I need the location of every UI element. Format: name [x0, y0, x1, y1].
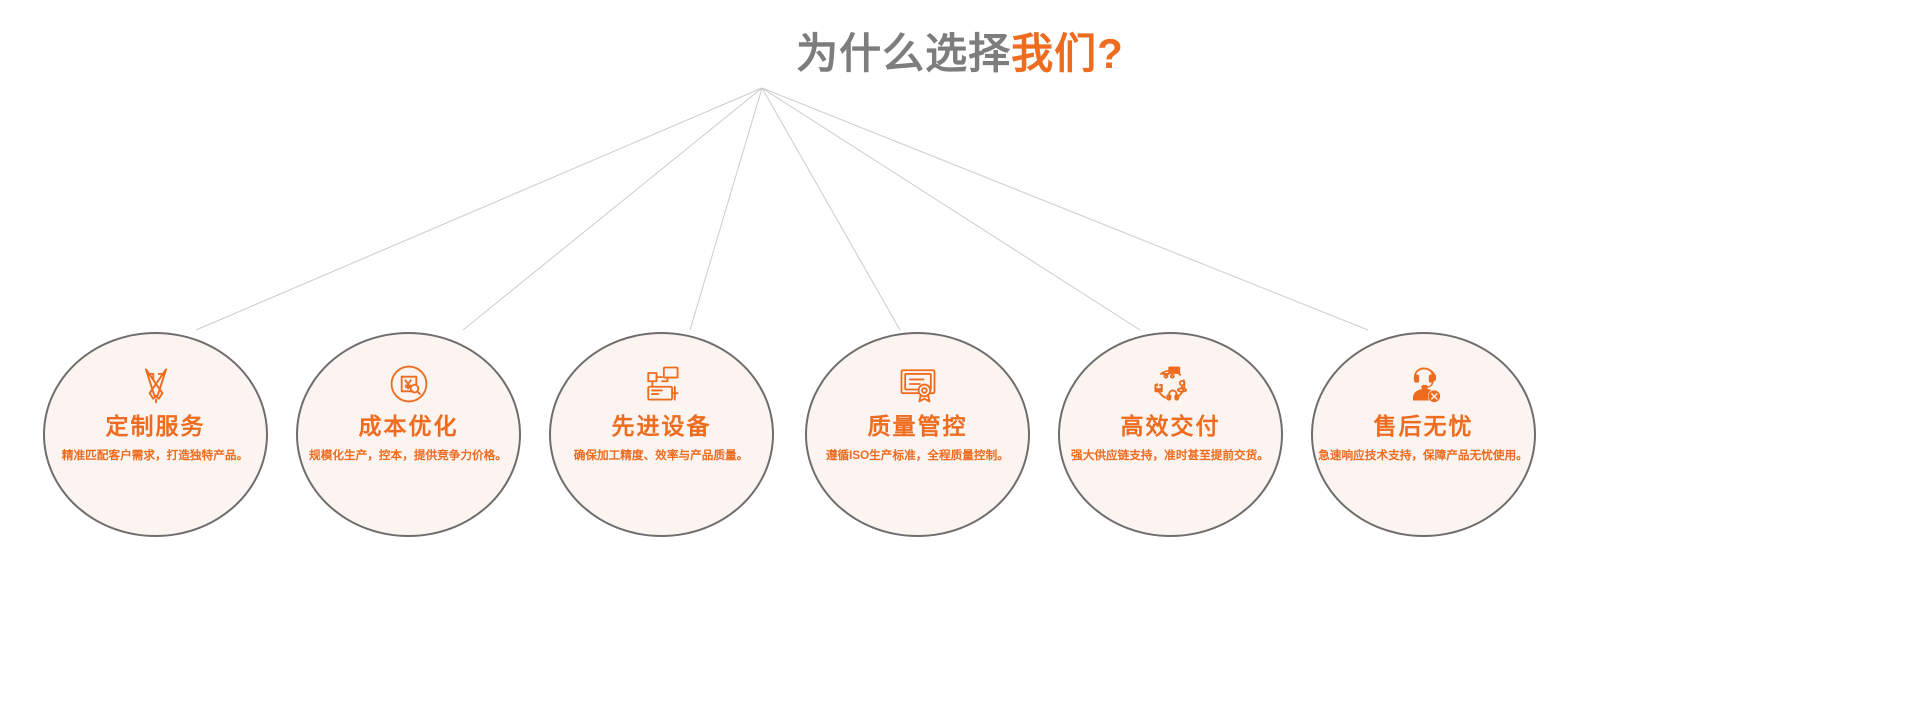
feature-bubble-cost-optimization[interactable]: 成本优化 规模化生产，控本，提供竞争力价格。	[296, 332, 521, 537]
feature-title: 定制服务	[106, 414, 206, 439]
feature-subtitle: 精准匹配客户需求，打造独特产品。	[62, 449, 248, 463]
feature-subtitle: 强大供应链支持，准时甚至提前交货。	[1072, 449, 1270, 463]
feature-title: 高效交付	[1121, 414, 1221, 439]
feature-subtitle: 急速响应技术支持，保障产品无忧使用。	[1319, 449, 1529, 463]
connector-line-custom-service	[196, 88, 762, 330]
infographic-stage: 为什么选择我们? 定制服务 精准匹配客户需求，打造独特产品。	[0, 0, 1920, 719]
feature-title: 质量管控	[868, 414, 968, 439]
support-agent-icon	[1402, 362, 1446, 406]
feature-bubble-quality-control[interactable]: 质量管控 遵循ISO生产标准，全程质量控制。	[805, 332, 1030, 537]
feature-bubble-efficient-delivery[interactable]: 高效交付 强大供应链支持，准时甚至提前交货。	[1058, 332, 1283, 537]
feature-title: 先进设备	[612, 414, 712, 439]
ruler-pencil-icon	[134, 362, 178, 406]
connector-line-after-sales	[762, 88, 1368, 330]
feature-bubble-row: 定制服务 精准匹配客户需求，打造独特产品。 成本优化 规模化生产，控本	[0, 332, 1920, 542]
connector-line-efficient-delivery	[762, 88, 1140, 330]
connector-line-cost-optimization	[463, 88, 762, 330]
feature-bubble-advanced-equipment[interactable]: 先进设备 确保加工精度、效率与产品质量。	[549, 332, 774, 537]
page-title-accent: 我们?	[1011, 30, 1124, 77]
feature-bubble-custom-service[interactable]: 定制服务 精准匹配客户需求，打造独特产品。	[43, 332, 268, 537]
feature-title: 售后无忧	[1374, 414, 1474, 439]
page-title-prefix: 为什么选择	[796, 30, 1011, 77]
yuan-document-search-icon	[387, 362, 431, 406]
connector-line-quality-control	[762, 88, 900, 330]
feature-subtitle: 遵循ISO生产标准，全程质量控制。	[826, 449, 1009, 463]
feature-subtitle: 规模化生产，控本，提供竞争力价格。	[310, 449, 508, 463]
connector-line-advanced-equipment	[690, 88, 762, 330]
supply-chain-truck-icon	[1149, 362, 1193, 406]
certificate-seal-icon	[896, 362, 940, 406]
cnc-machine-computer-icon	[640, 362, 684, 406]
page-title: 为什么选择我们?	[0, 28, 1920, 81]
feature-bubble-after-sales[interactable]: 售后无忧 急速响应技术支持，保障产品无忧使用。	[1311, 332, 1536, 537]
feature-subtitle: 确保加工精度、效率与产品质量。	[574, 449, 749, 463]
feature-title: 成本优化	[359, 414, 459, 439]
